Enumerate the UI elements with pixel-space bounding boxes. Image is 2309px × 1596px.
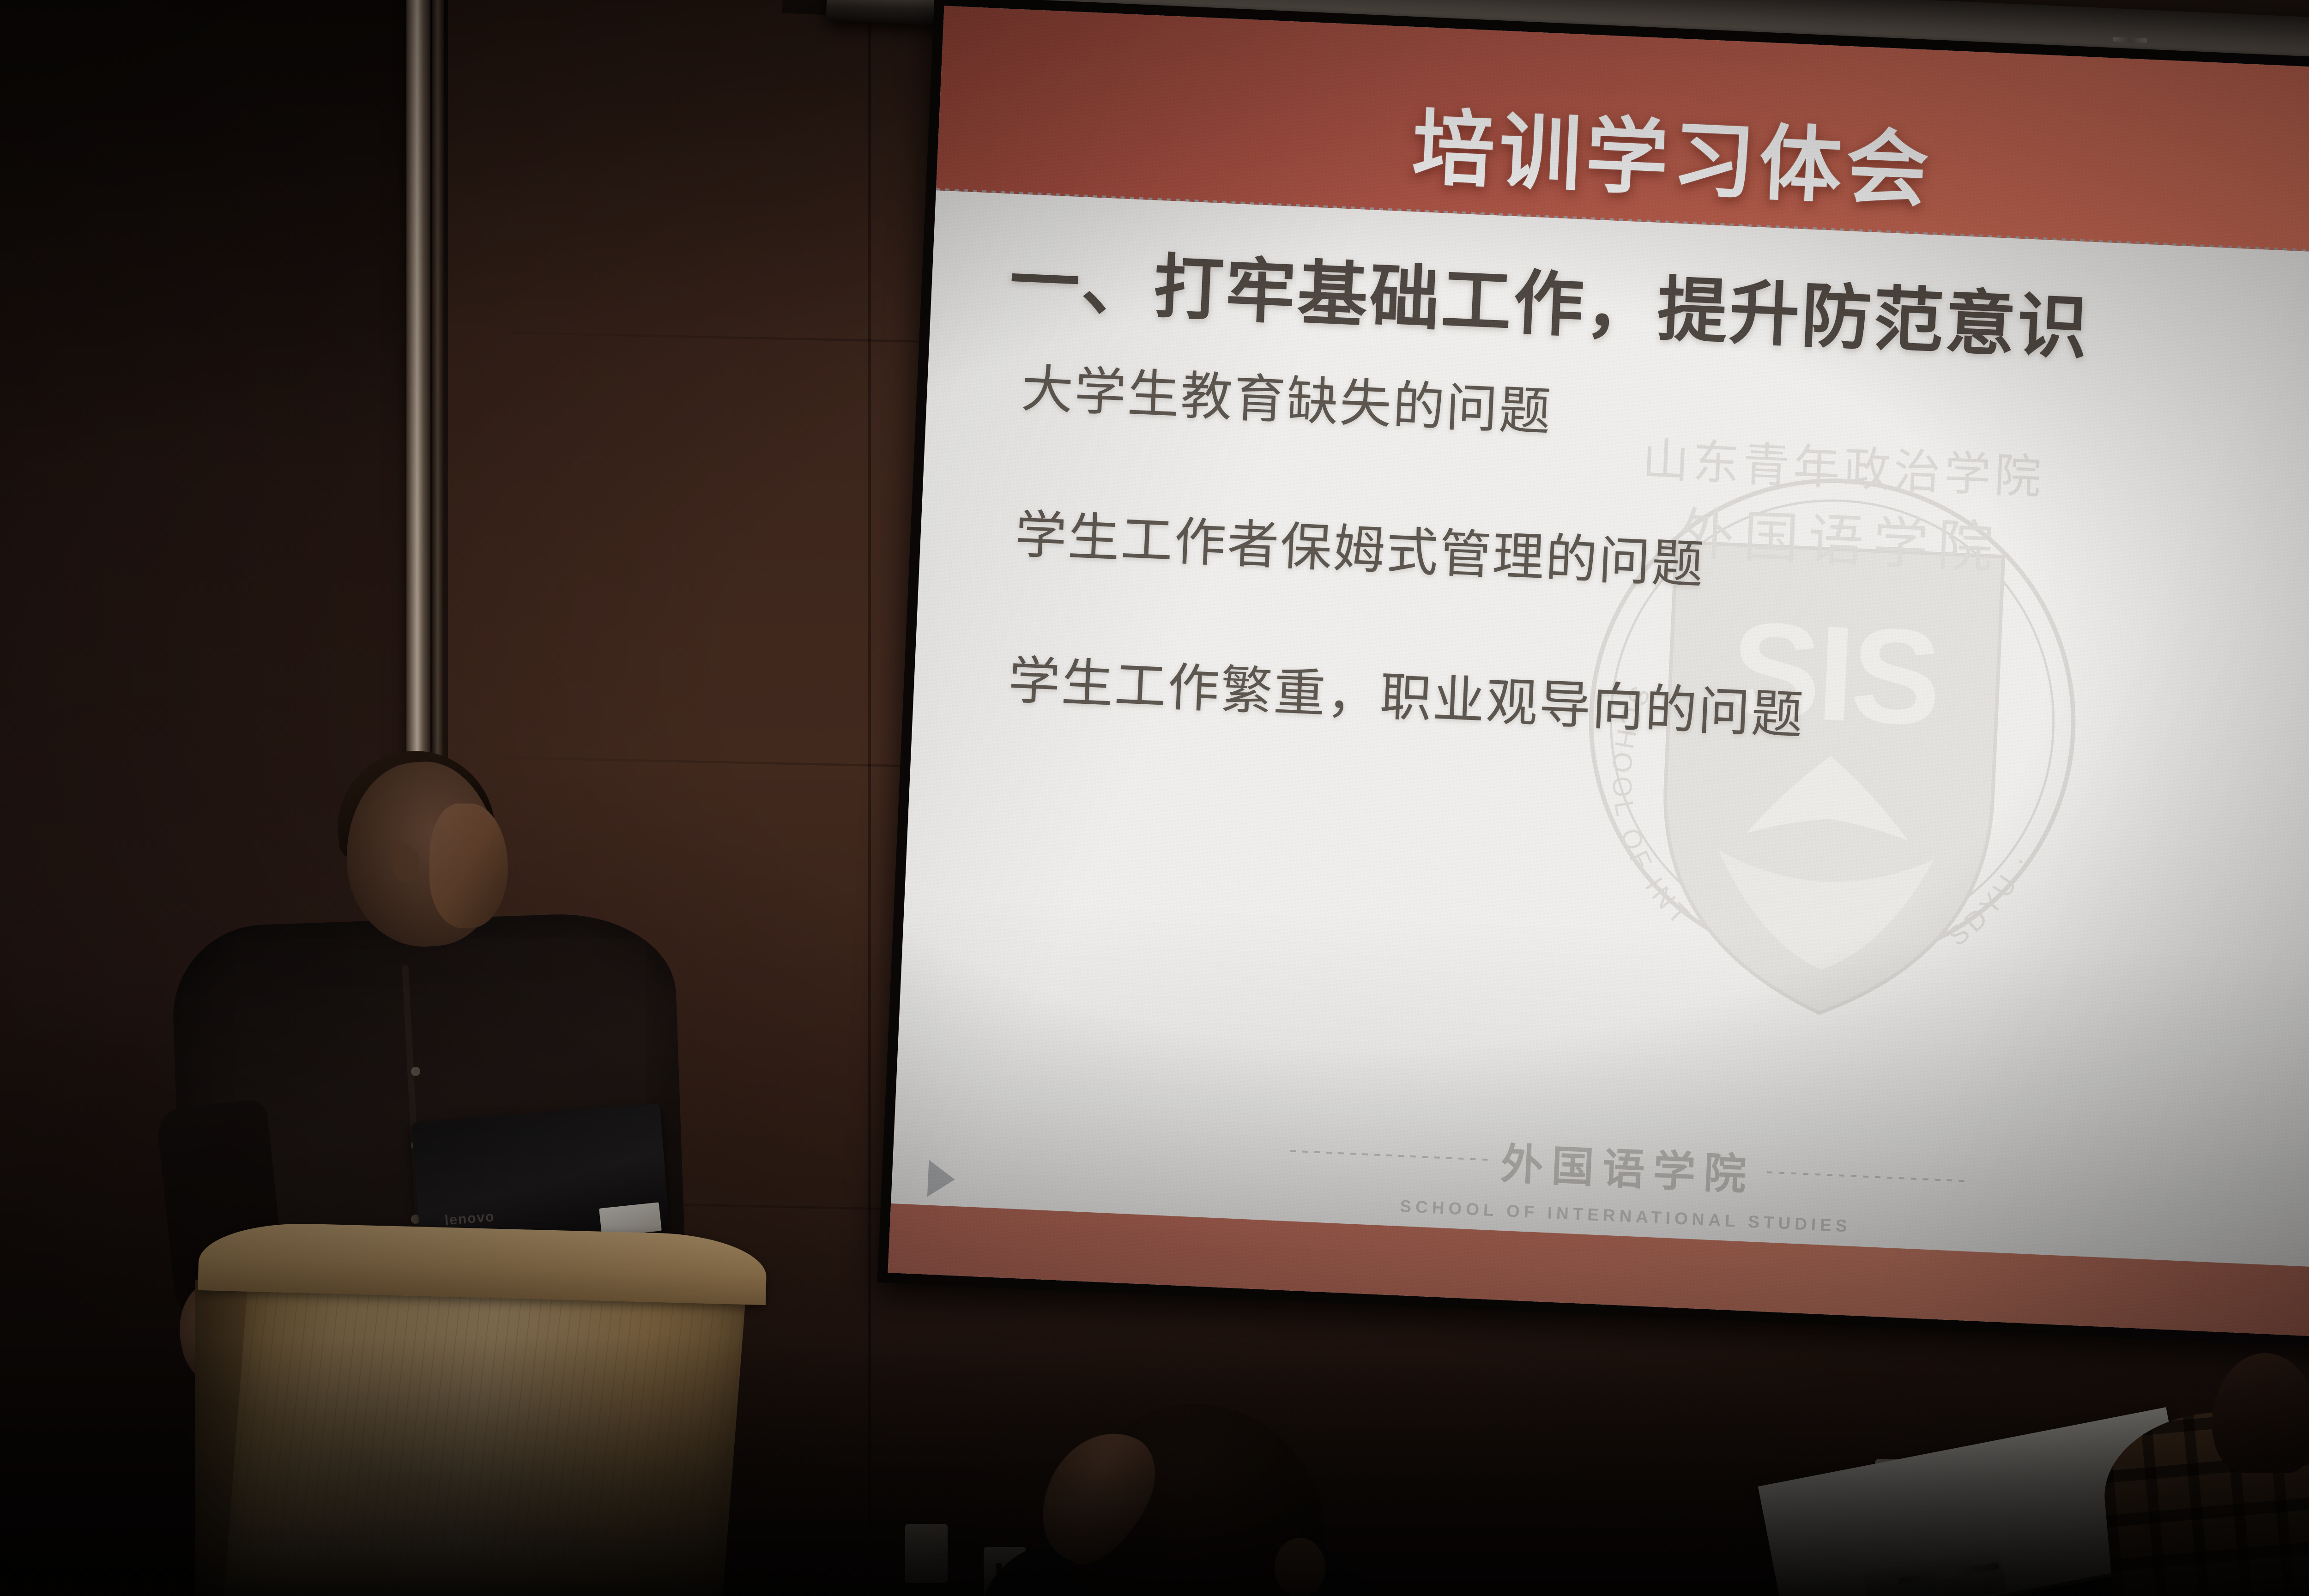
list-item: 学生工作繁重，职业观导向的问题	[1007, 638, 2309, 771]
projection-screen: 培训学习体会 山东青年政治学院	[877, 0, 2309, 1348]
presenter-ear	[393, 845, 419, 882]
lecture-hall-photo: 培训学习体会 山东青年政治学院	[0, 0, 2309, 1596]
shirt-button	[411, 1067, 420, 1076]
presenter-face	[429, 804, 508, 928]
housing-marking-icon	[2113, 37, 2147, 43]
podium-front-panel	[224, 1279, 746, 1596]
podium	[199, 1228, 767, 1596]
list-item: 大学生教育缺失的问题	[1020, 347, 2309, 480]
svg-text:SDYU ·: SDYU ·	[1942, 844, 2037, 955]
slideshow-play-arrow-icon[interactable]	[927, 1160, 956, 1198]
wall-vertical-seam	[868, 0, 871, 1596]
slide-heading: 一、打牢基础工作，提升防范意识	[1008, 224, 2091, 373]
footer-dotted-rule-right	[1766, 1171, 1965, 1182]
wall-plate	[905, 1524, 948, 1583]
slide-body: 山东青年政治学院 外国语学院 SIS SCHOOL OF INTERNATION…	[888, 190, 2309, 1338]
footer-school-name-cn: 外国语学院	[1499, 1130, 1756, 1202]
slide-bullet-list: 大学生教育缺失的问题 学生工作者保姆式管理的问题 学生工作繁重，职业观导向的问题	[1004, 347, 2309, 842]
footer-dotted-rule-left	[1290, 1150, 1489, 1161]
powerpoint-slide[interactable]: 培训学习体会 山东青年政治学院	[888, 6, 2309, 1338]
podium-wood-grain	[224, 1279, 746, 1596]
audience-member-ear	[1275, 1538, 1325, 1596]
list-item: 学生工作者保姆式管理的问题	[1014, 493, 2309, 626]
laptop-brand-logo: lenovo	[444, 1209, 496, 1228]
